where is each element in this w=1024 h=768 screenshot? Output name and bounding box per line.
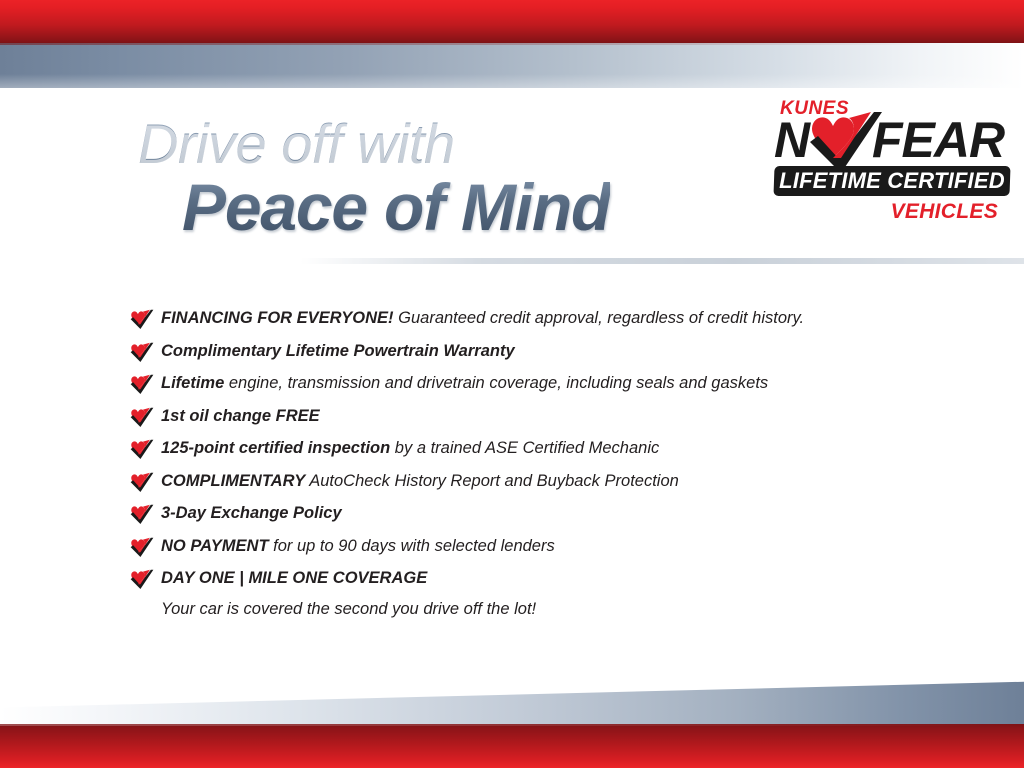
benefit-subtext: Your car is covered the second you drive… bbox=[161, 598, 990, 620]
heart-check-bullet-icon bbox=[130, 504, 154, 525]
logo-no-fear-wordmark: N FEAR bbox=[774, 114, 1010, 166]
promo-graphic: Drive off with Peace of Mind KUNES N FEA… bbox=[0, 0, 1024, 768]
heart-check-bullet-icon bbox=[130, 374, 154, 395]
top-gray-band-sheen bbox=[0, 74, 1024, 88]
heart-check-bullet-icon bbox=[130, 569, 154, 590]
benefit-item: DAY ONE | MILE ONE COVERAGEYour car is c… bbox=[130, 568, 990, 620]
benefit-emphasis: FINANCING FOR EVERYONE! bbox=[161, 309, 394, 327]
benefit-detail: engine, transmission and drivetrain cove… bbox=[224, 374, 768, 392]
logo-lifetime-certified-text: LIFETIME CERTIFIED bbox=[774, 166, 1010, 196]
top-red-band bbox=[0, 0, 1024, 43]
heart-check-bullet-icon bbox=[130, 407, 154, 428]
benefit-emphasis: 1st oil change FREE bbox=[161, 407, 320, 425]
benefit-row: NO PAYMENT for up to 90 days with select… bbox=[130, 536, 990, 558]
headline-line-2: Peace of Mind bbox=[182, 174, 610, 240]
benefit-row: 3-Day Exchange Policy bbox=[130, 503, 990, 525]
benefit-item: NO PAYMENT for up to 90 days with select… bbox=[130, 536, 990, 558]
heart-check-bullet-icon bbox=[130, 342, 154, 363]
kunes-no-fear-logo: KUNES N FEAR LIFETIME CERTIFIED VEHICLES bbox=[764, 90, 1010, 236]
benefits-list: FINANCING FOR EVERYONE! Guaranteed credi… bbox=[130, 308, 990, 620]
benefit-row: FINANCING FOR EVERYONE! Guaranteed credi… bbox=[130, 308, 990, 330]
benefit-emphasis: COMPLIMENTARY bbox=[161, 472, 305, 490]
benefit-text: NO PAYMENT for up to 90 days with select… bbox=[161, 536, 555, 557]
heart-check-icon bbox=[808, 112, 884, 174]
benefit-row: DAY ONE | MILE ONE COVERAGE bbox=[130, 568, 990, 590]
top-gray-band bbox=[0, 43, 1024, 88]
benefit-emphasis: DAY ONE | MILE ONE COVERAGE bbox=[161, 569, 427, 587]
logo-vehicles-text: VEHICLES bbox=[891, 200, 998, 224]
benefit-emphasis: 3-Day Exchange Policy bbox=[161, 504, 342, 522]
benefit-text: 125-point certified inspection by a trai… bbox=[161, 438, 659, 459]
benefit-detail: Guaranteed credit approval, regardless o… bbox=[394, 309, 805, 327]
benefit-detail: for up to 90 days with selected lenders bbox=[269, 537, 555, 555]
benefit-item: 125-point certified inspection by a trai… bbox=[130, 438, 990, 460]
benefit-emphasis: Complimentary Lifetime Powertrain Warran… bbox=[161, 342, 515, 360]
benefit-text: DAY ONE | MILE ONE COVERAGE bbox=[161, 568, 427, 589]
logo-letter-n: N bbox=[774, 114, 809, 166]
page-title: Drive off with Peace of Mind bbox=[138, 116, 610, 240]
benefit-text: 3-Day Exchange Policy bbox=[161, 503, 342, 524]
benefit-item: COMPLIMENTARY AutoCheck History Report a… bbox=[130, 471, 990, 493]
benefit-item: 1st oil change FREE bbox=[130, 406, 990, 428]
heart-check-bullet-icon bbox=[130, 439, 154, 460]
header: Drive off with Peace of Mind KUNES N FEA… bbox=[0, 88, 1024, 263]
benefit-row: Complimentary Lifetime Powertrain Warran… bbox=[130, 341, 990, 363]
logo-lifetime-bar: LIFETIME CERTIFIED bbox=[773, 166, 1010, 196]
benefit-text: FINANCING FOR EVERYONE! Guaranteed credi… bbox=[161, 308, 804, 329]
benefit-text: Lifetime engine, transmission and drivet… bbox=[161, 373, 768, 394]
bottom-red-band bbox=[0, 724, 1024, 768]
benefit-item: Lifetime engine, transmission and drivet… bbox=[130, 373, 990, 395]
benefit-emphasis: 125-point certified inspection bbox=[161, 439, 390, 457]
benefit-item: 3-Day Exchange Policy bbox=[130, 503, 990, 525]
logo-word-fear: FEAR bbox=[872, 114, 1004, 166]
benefit-row: 125-point certified inspection by a trai… bbox=[130, 438, 990, 460]
bottom-gray-band bbox=[0, 679, 1024, 725]
heart-check-bullet-icon bbox=[130, 309, 154, 330]
header-divider bbox=[300, 258, 1024, 264]
heart-check-bullet-icon bbox=[130, 537, 154, 558]
benefit-item: Complimentary Lifetime Powertrain Warran… bbox=[130, 341, 990, 363]
headline-line-1: Drive off with bbox=[138, 116, 610, 172]
benefit-emphasis: NO PAYMENT bbox=[161, 537, 269, 555]
benefit-detail: by a trained ASE Certified Mechanic bbox=[390, 439, 659, 457]
benefit-detail: AutoCheck History Report and Buyback Pro… bbox=[305, 472, 679, 490]
heart-check-bullet-icon bbox=[130, 472, 154, 493]
benefit-text: COMPLIMENTARY AutoCheck History Report a… bbox=[161, 471, 679, 492]
benefit-item: FINANCING FOR EVERYONE! Guaranteed credi… bbox=[130, 308, 990, 330]
benefit-emphasis: Lifetime bbox=[161, 374, 224, 392]
benefit-row: Lifetime engine, transmission and drivet… bbox=[130, 373, 990, 395]
benefit-row: 1st oil change FREE bbox=[130, 406, 990, 428]
benefit-row: COMPLIMENTARY AutoCheck History Report a… bbox=[130, 471, 990, 493]
benefit-text: Complimentary Lifetime Powertrain Warran… bbox=[161, 341, 515, 362]
benefit-text: 1st oil change FREE bbox=[161, 406, 320, 427]
